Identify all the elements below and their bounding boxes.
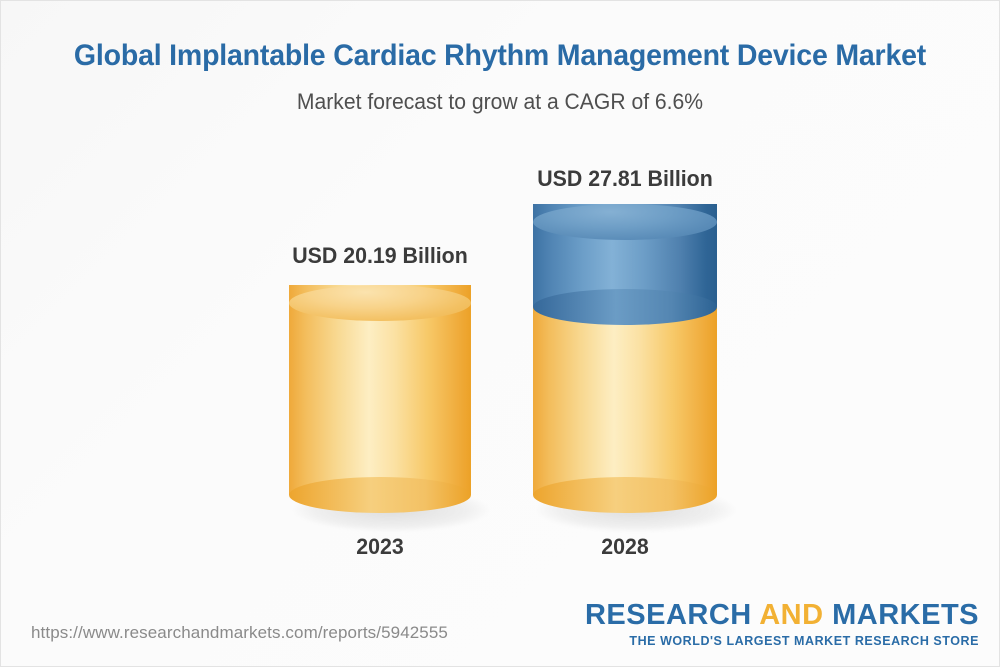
research-and-markets-logo[interactable]: RESEARCH AND MARKETS THE WORLD'S LARGEST… — [585, 601, 979, 648]
cylinder-bottom-2028 — [533, 477, 717, 513]
chart-canvas: Global Implantable Cardiac Rhythm Manage… — [0, 0, 1000, 667]
cylinder-segment-divider-2028 — [533, 289, 717, 325]
logo-markets-text: MARKETS — [832, 599, 979, 631]
report-url[interactable]: https://www.researchandmarkets.com/repor… — [31, 623, 448, 643]
logo-tagline: THE WORLD'S LARGEST MARKET RESEARCH STOR… — [585, 634, 979, 648]
bar-value-label-2023: USD 20.19 Billion — [292, 243, 469, 269]
bar-value-label-2028: USD 27.81 Billion — [536, 166, 714, 192]
cylinder-top-2023 — [289, 285, 471, 321]
bar-category-label-2028: 2028 — [536, 534, 714, 560]
logo-research-text: RESEARCH — [585, 599, 752, 631]
chart-plot-area: USD 20.19 Billion 2023 USD 27.81 Billion — [1, 1, 1000, 667]
logo-wordmark: RESEARCH AND MARKETS — [585, 601, 979, 630]
bar-category-label-2023: 2023 — [292, 534, 469, 560]
cylinder-bottom-2023 — [289, 477, 471, 513]
cylinder-top-2028 — [533, 204, 717, 240]
logo-and-text: AND — [759, 599, 823, 631]
cylinder-body-yellow-2028 — [533, 307, 717, 495]
